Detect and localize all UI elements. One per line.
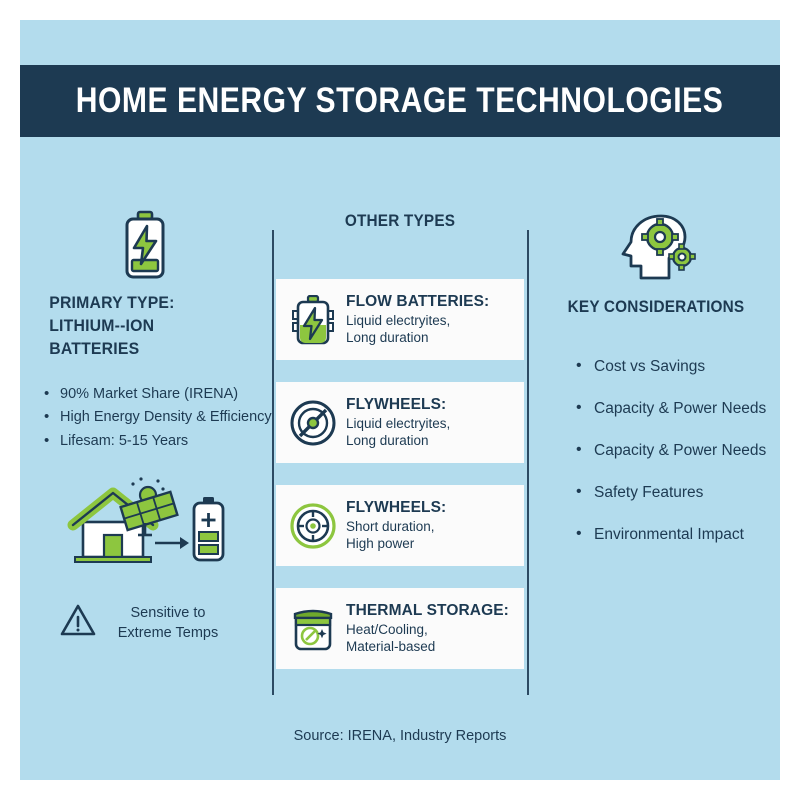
card-flow-batteries[interactable]: FLOW BATTERIES: Liquid electryites, Long… [276,279,524,360]
flywheel-disc-icon [286,399,340,447]
card-text: FLOW BATTERIES: Liquid electryites, Long… [346,293,489,347]
right-column: KEY CONSIDERATIONS Cost vs Savings Capac… [532,210,780,567]
house-solar-to-battery-icon [20,475,270,575]
card-text: FLYWHEELS: Liquid electryites, Long dura… [346,396,450,450]
center-column: OTHER TYPES FLOW BATTER [276,210,524,691]
left-bullet-list: 90% Market Share (IRENA) High Energy Den… [20,383,270,453]
flow-battery-icon [286,295,340,345]
left-column-heading: PRIMARY TYPE: LITHIUM--ION BATTERIES [49,292,241,361]
card-title: FLOW BATTERIES: [346,293,489,311]
divider-right [527,230,529,695]
list-item: Safety Features [576,484,780,502]
storage-type-card-list: FLOW BATTERIES: Liquid electryites, Long… [276,279,524,669]
center-column-heading: OTHER TYPES [285,210,516,232]
flywheel-rings-icon [286,502,340,550]
card-flywheels-short[interactable]: FLYWHEELS: Short duration, High power [276,485,524,566]
warning-text: Sensitive to Extreme Temps [106,603,231,643]
card-title: FLYWHEELS: [346,499,446,517]
card-flywheels-liquid[interactable]: FLYWHEELS: Liquid electryites, Long dura… [276,382,524,463]
list-item: Lifesam: 5-15 Years [44,430,260,453]
card-subtitle: Liquid electryites, Long duration [346,416,450,450]
head-gears-icon [532,210,780,284]
left-column: PRIMARY TYPE: LITHIUM--ION BATTERIES 90%… [20,210,270,643]
warning-triangle-icon [60,603,96,637]
list-item: Capacity & Power Needs [576,442,780,460]
list-item: High Energy Density & Efficiency [44,406,260,429]
source-note: Source: IRENA, Industry Reports [20,728,780,744]
infographic-canvas: HOME ENERGY STORAGE TECHNOLOGIES PRIMARY… [20,20,780,780]
card-title: FLYWHEELS: [346,396,450,414]
list-item: Environmental Impact [576,526,780,544]
card-subtitle: Liquid electryites, Long duration [346,313,489,347]
card-subtitle: Short duration, High power [346,519,446,553]
list-item: Cost vs Savings [576,358,780,376]
card-thermal-storage[interactable]: THERMAL STORAGE: Heat/Cooling, Material-… [276,588,524,669]
thermal-tank-icon [286,605,340,653]
right-bullet-list: Cost vs Savings Capacity & Power Needs C… [532,358,780,543]
divider-left [272,230,274,695]
card-text: FLYWHEELS: Short duration, High power [346,499,446,553]
page-title: HOME ENERGY STORAGE TECHNOLOGIES [76,81,724,121]
list-item: Capacity & Power Needs [576,400,780,418]
list-item: 90% Market Share (IRENA) [44,383,260,406]
right-column-heading: KEY CONSIDERATIONS [541,296,772,318]
card-text: THERMAL STORAGE: Heat/Cooling, Material-… [346,602,509,656]
warning-row: Sensitive to Extreme Temps [20,603,270,643]
header-bar: HOME ENERGY STORAGE TECHNOLOGIES [20,65,780,137]
card-subtitle: Heat/Cooling, Material-based [346,622,509,656]
card-title: THERMAL STORAGE: [346,602,509,620]
battery-charging-icon [20,210,270,282]
